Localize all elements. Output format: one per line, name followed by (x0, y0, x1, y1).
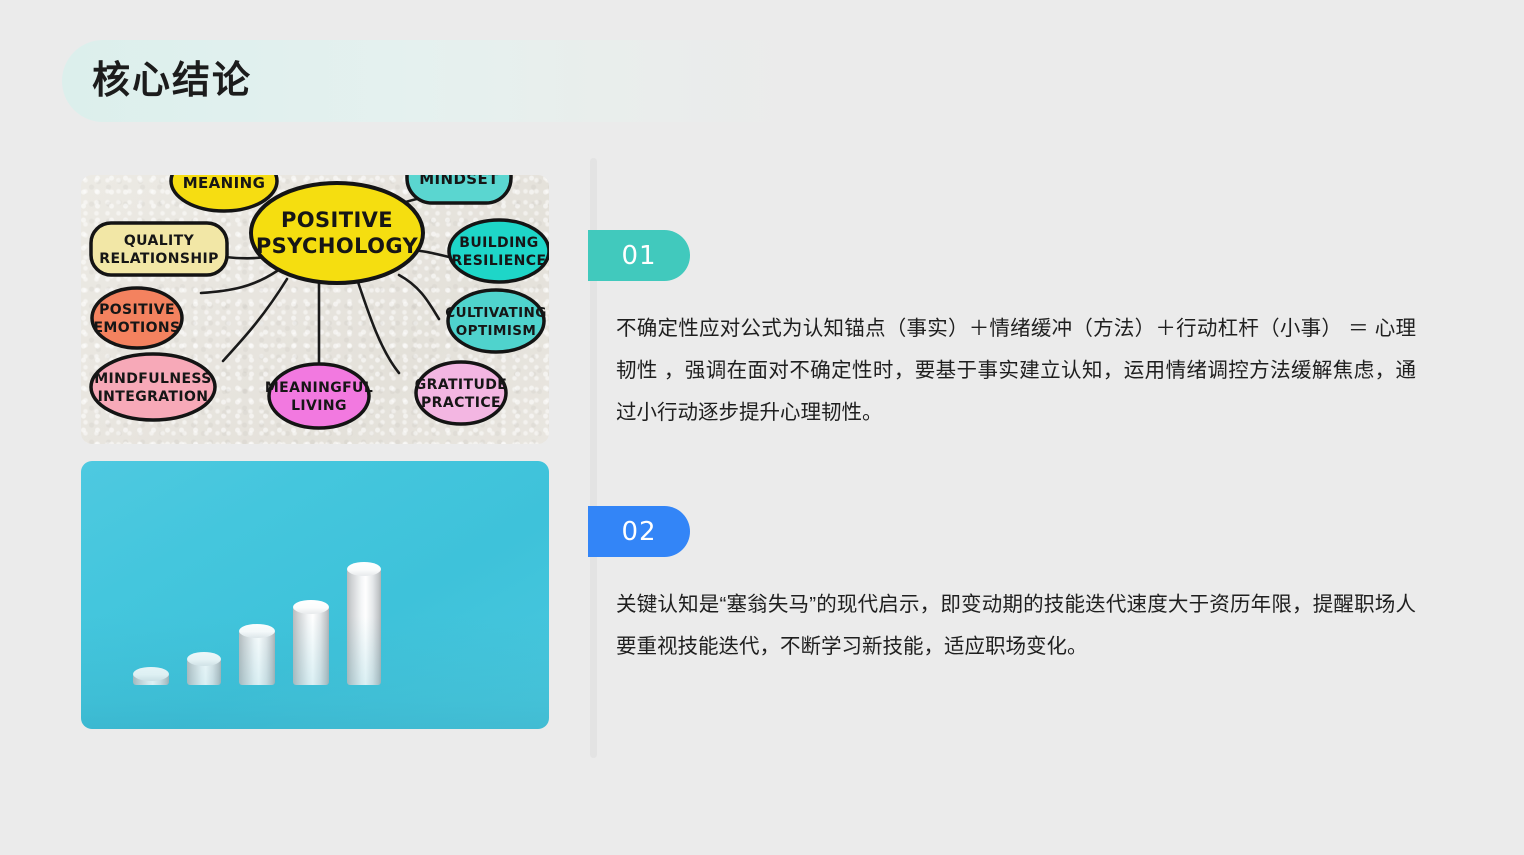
bar-3 (239, 631, 275, 685)
svg-text:POSITIVE: POSITIVE (99, 302, 175, 318)
mindmap-node-building-resilience: BUILDING RESILIENCE (449, 220, 549, 282)
conclusion-text-01: 不确定性应对公式为认知锚点（事实）＋情绪缓冲（方法）＋行动杠杆（小事） ＝ 心理… (616, 308, 1416, 434)
svg-text:PRACTICE: PRACTICE (421, 395, 501, 411)
badge-01: 01 (588, 230, 690, 281)
bar-4 (293, 607, 329, 685)
svg-text:RESILIENCE: RESILIENCE (452, 253, 547, 269)
svg-text:MEANINGFUL: MEANINGFUL (265, 380, 373, 396)
conclusion-item-02: 02 关键认知是“塞翁失马”的现代启示，即变动期的技能迭代速度大于资历年限，提醒… (588, 506, 1433, 668)
conclusions-list: 01 不确定性应对公式为认知锚点（事实）＋情绪缓冲（方法）＋行动杠杆（小事） ＝… (588, 158, 1433, 668)
bar-group (133, 525, 381, 685)
bar-2 (187, 659, 221, 685)
svg-text:MEANING: MEANING (183, 175, 266, 192)
svg-text:GRATITUDE: GRATITUDE (415, 377, 507, 393)
positive-psychology-mind-map: POSITIVE PSYCHOLOGY MEANING MINDSET QUAL… (81, 175, 549, 444)
svg-text:LIVING: LIVING (291, 398, 347, 414)
mindmap-node-mindfulness-integration: MINDFULNESS INTEGRATION (91, 354, 215, 420)
mindmap-node-meaningful-living: MEANINGFUL LIVING (265, 364, 373, 428)
page-title: 核心结论 (92, 62, 252, 100)
svg-text:POSITIVE: POSITIVE (281, 208, 393, 232)
svg-text:EMOTIONS: EMOTIONS (93, 320, 180, 336)
media-column: POSITIVE PSYCHOLOGY MEANING MINDSET QUAL… (81, 175, 549, 729)
mindmap-node-center: POSITIVE PSYCHOLOGY (251, 183, 423, 283)
svg-text:OPTIMISM: OPTIMISM (456, 323, 536, 339)
mindmap-node-positive-emotions: POSITIVE EMOTIONS (92, 288, 182, 348)
svg-text:MINDFULNESS: MINDFULNESS (94, 371, 212, 387)
svg-text:CULTIVATING: CULTIVATING (445, 305, 546, 321)
conclusion-item-01: 01 不确定性应对公式为认知锚点（事实）＋情绪缓冲（方法）＋行动杠杆（小事） ＝… (588, 230, 1433, 434)
mindmap-node-mindset: MINDSET (407, 175, 511, 203)
svg-text:INTEGRATION: INTEGRATION (98, 389, 209, 405)
bar-5 (347, 569, 381, 685)
growth-bar-chart-3d (81, 461, 549, 729)
mindmap-node-gratitude-practice: GRATITUDE PRACTICE (415, 362, 507, 424)
mindmap-node-cultivating-optimism: CULTIVATING OPTIMISM (445, 290, 546, 352)
conclusion-text-02: 关键认知是“塞翁失马”的现代启示，即变动期的技能迭代速度大于资历年限，提醒职场人… (616, 584, 1416, 668)
mindmap-node-quality-relationship: QUALITY RELATIONSHIP (91, 223, 227, 275)
mindmap-node-meaning: MEANING (171, 175, 277, 211)
svg-text:BUILDING: BUILDING (459, 235, 538, 251)
svg-text:QUALITY: QUALITY (124, 233, 195, 249)
bar-1 (133, 674, 169, 685)
page-title-band: 核心结论 (62, 40, 852, 122)
svg-text:RELATIONSHIP: RELATIONSHIP (99, 251, 218, 267)
badge-02: 02 (588, 506, 690, 557)
mind-map-image-card[interactable]: POSITIVE PSYCHOLOGY MEANING MINDSET QUAL… (81, 175, 549, 444)
bar-chart-image-card[interactable] (81, 461, 549, 729)
svg-text:MINDSET: MINDSET (419, 175, 499, 188)
svg-text:PSYCHOLOGY: PSYCHOLOGY (256, 234, 419, 258)
